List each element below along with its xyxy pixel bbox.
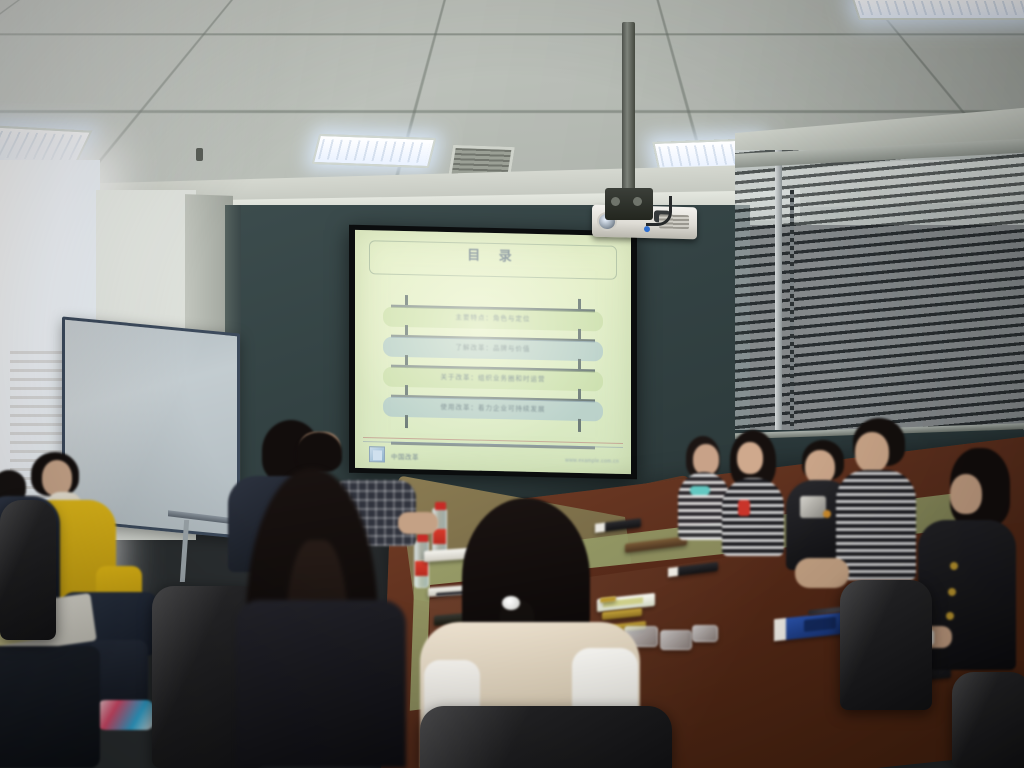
conference-room-photo: 目 录 主要特点：角色与定位 了解改革：品牌与价值 (0, 0, 1024, 768)
hair-clip (502, 596, 520, 610)
projection-screen: 目 录 主要特点：角色与定位 了解改革：品牌与价值 (349, 225, 637, 480)
office-chair[interactable] (0, 500, 56, 640)
office-chair[interactable] (420, 706, 672, 768)
ceiling-light-panel (851, 0, 1024, 20)
ceiling-sensor-icon (196, 148, 203, 161)
office-chair[interactable] (952, 672, 1024, 768)
projector-cable (646, 196, 672, 226)
glass-ashtray[interactable] (692, 625, 718, 642)
projected-slide: 目 录 主要特点：角色与定位 了解改革：品牌与价值 (355, 230, 631, 474)
office-chair[interactable] (840, 580, 932, 710)
glass-ashtray[interactable] (660, 630, 692, 650)
ceiling-light-panel (312, 134, 436, 168)
projector-mount-pole (622, 22, 635, 202)
hand (398, 512, 438, 534)
water-bottle[interactable] (414, 540, 429, 588)
projector-status-led (644, 226, 650, 232)
sneaker (92, 700, 154, 730)
